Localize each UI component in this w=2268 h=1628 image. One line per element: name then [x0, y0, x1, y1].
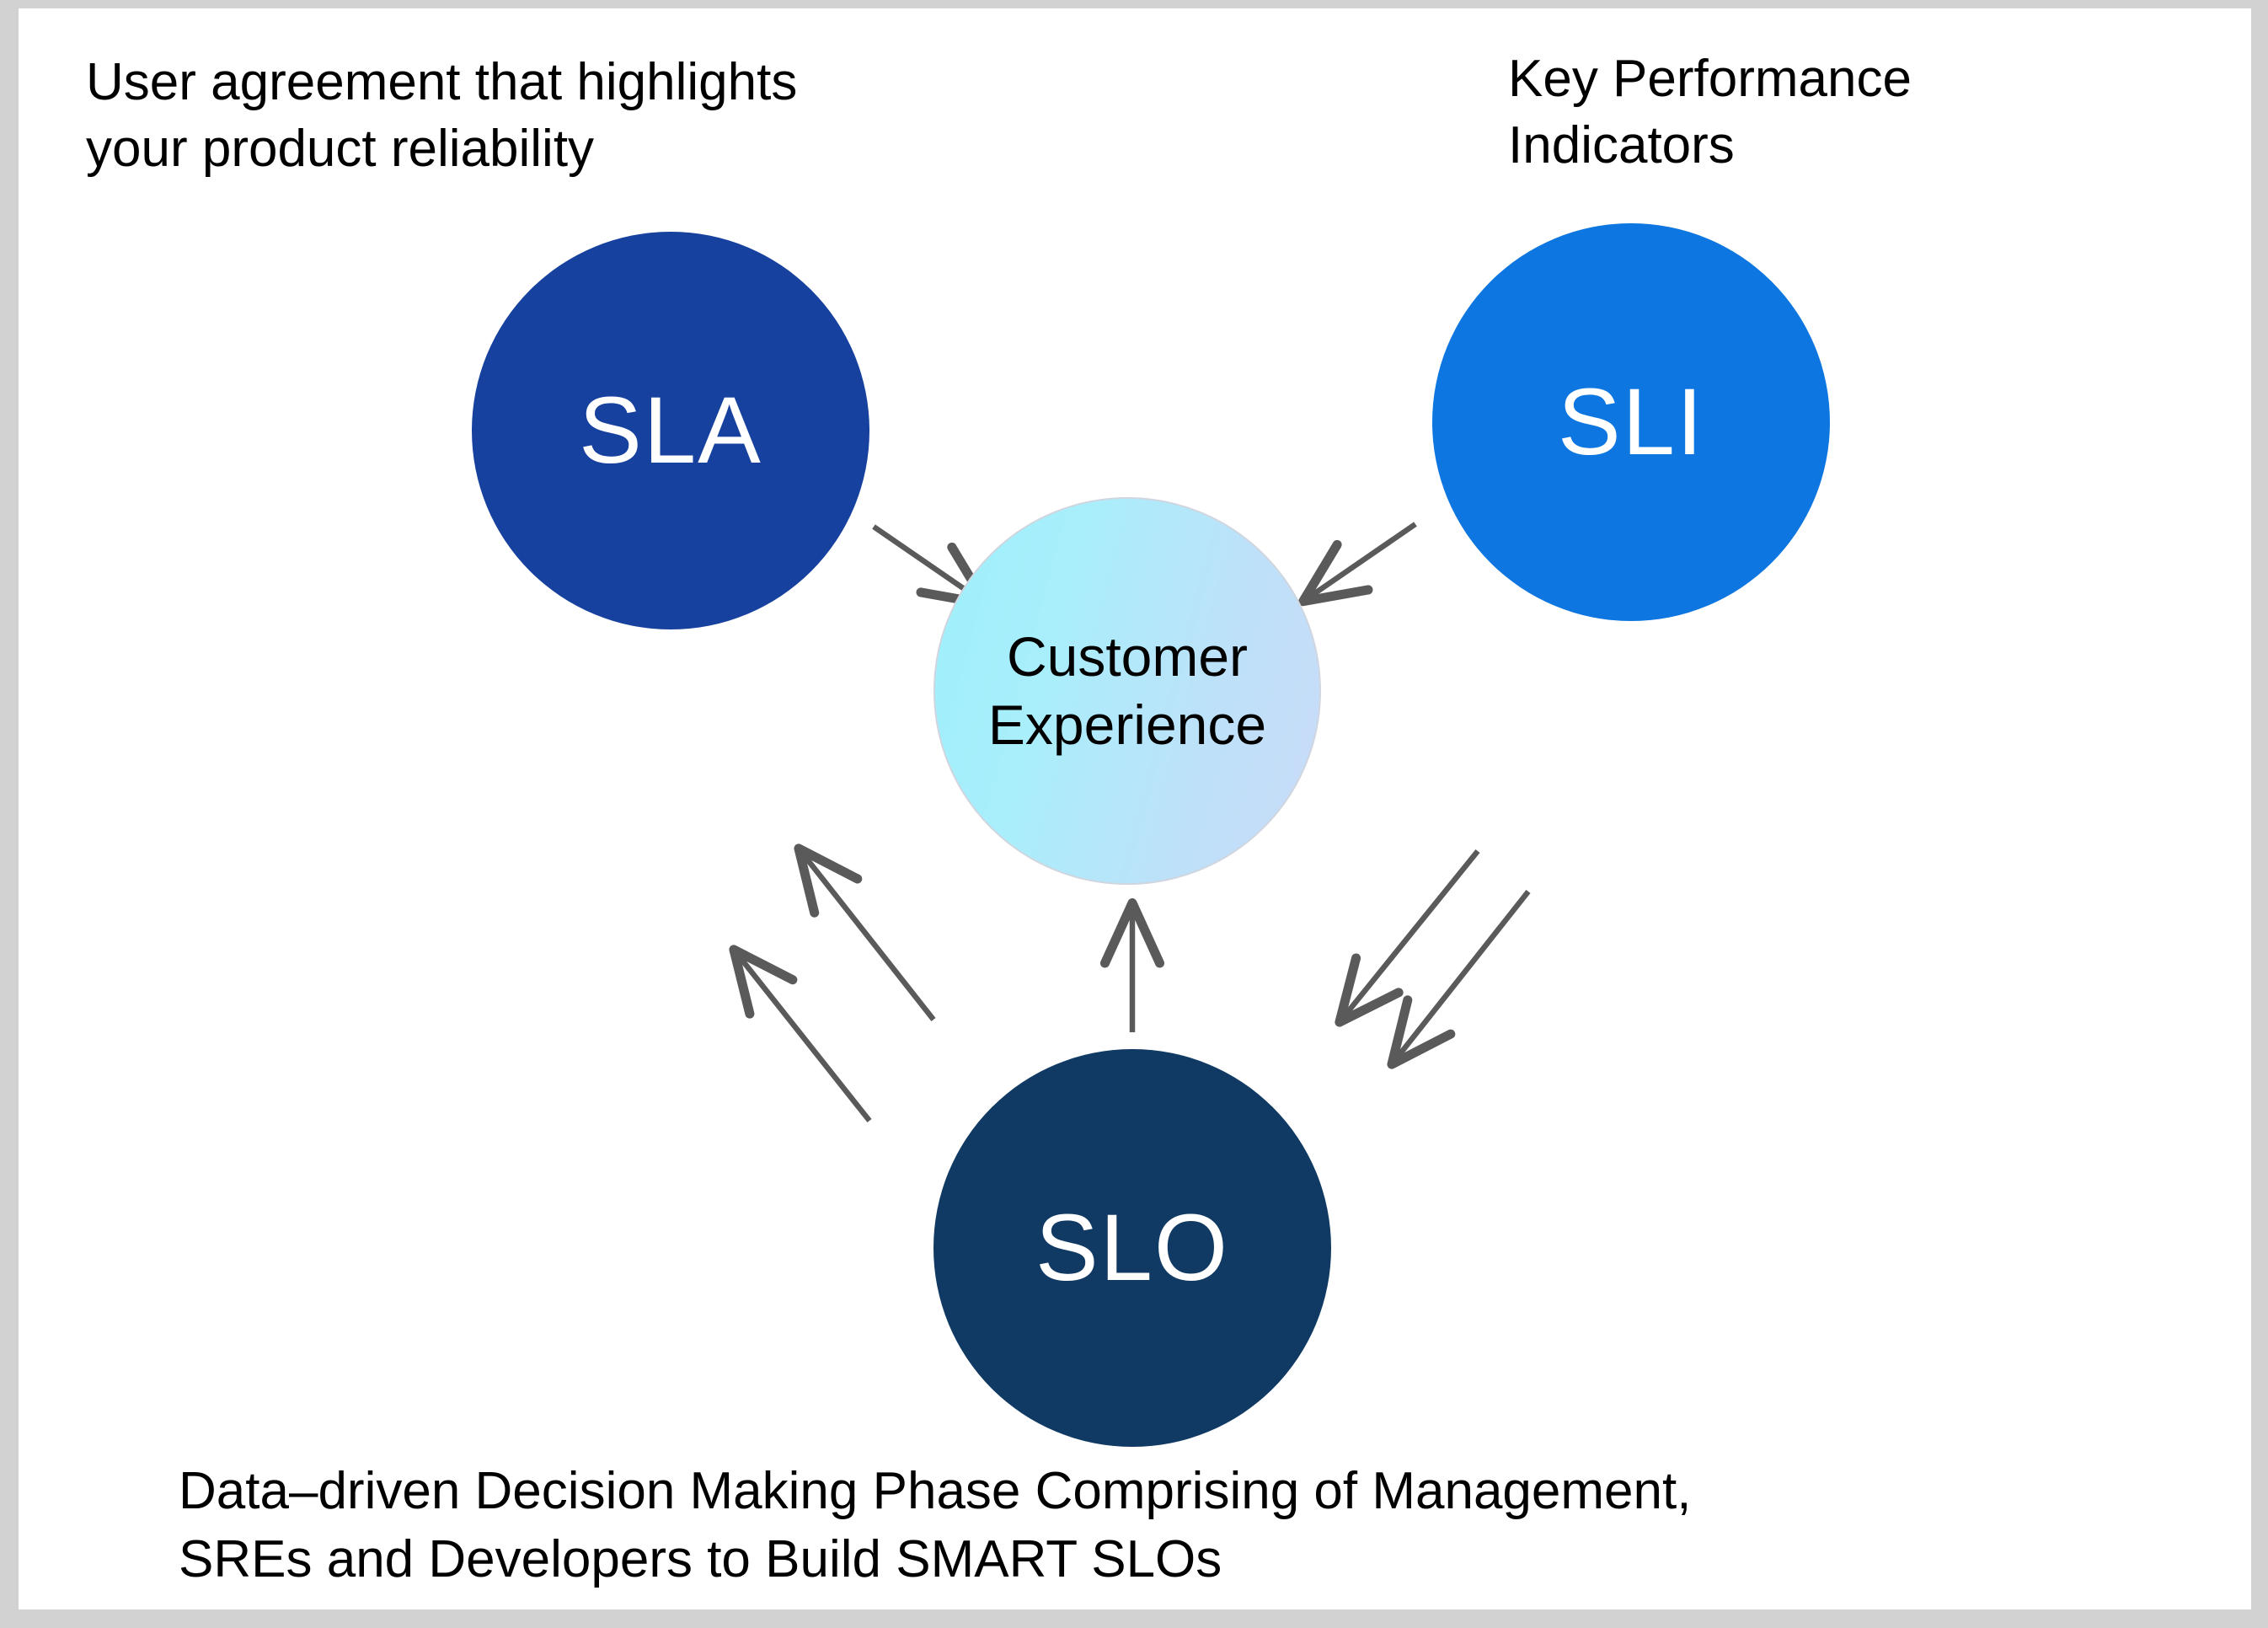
caption-sli: Key Performance Indicators	[1508, 46, 1912, 179]
caption-slo: Data–driven Decision Making Phase Compri…	[179, 1458, 1691, 1593]
diagram-canvas: SLA SLI SLO Customer Experience User agr…	[19, 8, 2251, 1609]
diagram-frame: SLA SLI SLO Customer Experience User agr…	[0, 0, 2268, 1628]
arrow-sli-to-customer-experience	[1308, 524, 1415, 598]
arrow-slo-to-sla-inner	[802, 853, 933, 1020]
arrow-slo-to-sla-outer	[737, 954, 869, 1121]
node-customer-experience[interactable]: Customer Experience	[933, 497, 1321, 885]
node-sli-label: SLI	[1558, 372, 1704, 472]
node-sli[interactable]: SLI	[1432, 223, 1830, 621]
node-slo-label: SLO	[1035, 1198, 1229, 1298]
node-sla[interactable]: SLA	[472, 232, 869, 629]
node-slo[interactable]: SLO	[933, 1049, 1331, 1447]
node-sla-label: SLA	[579, 381, 762, 480]
caption-sla: User agreement that highlights your prod…	[86, 49, 797, 183]
node-customer-experience-label: Customer Experience	[988, 623, 1266, 758]
arrow-customer-experience-to-slo-inner	[1343, 851, 1478, 1018]
arrow-customer-experience-to-slo-outer	[1395, 892, 1528, 1060]
